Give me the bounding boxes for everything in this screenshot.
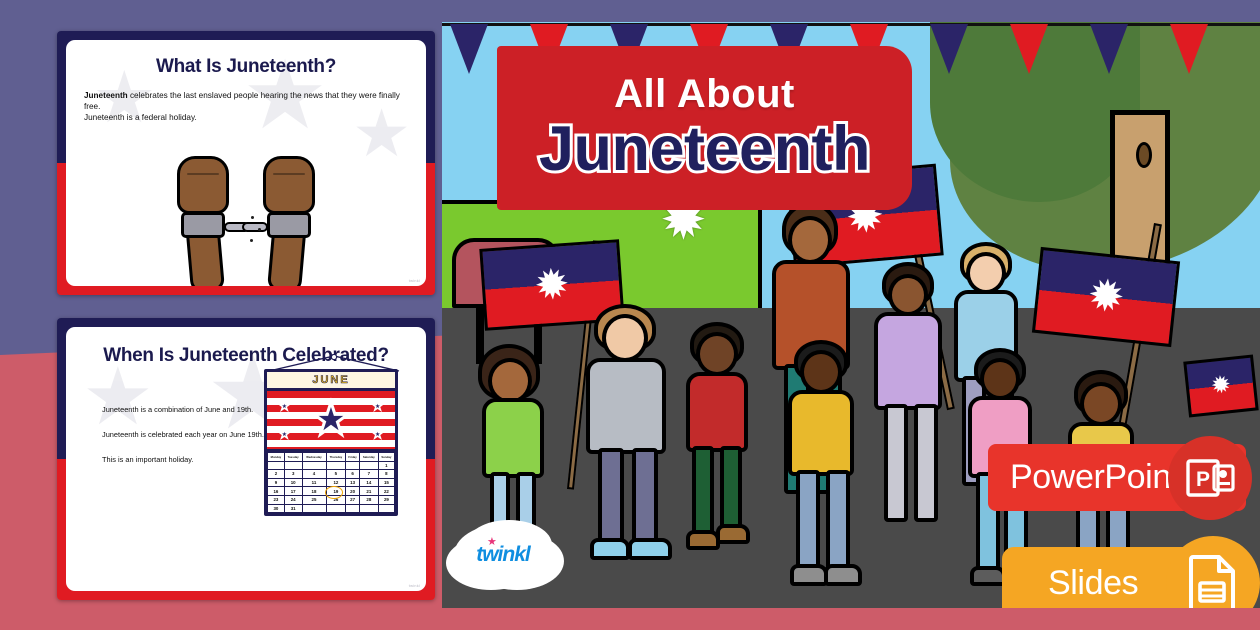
calendar-weekday-header: Tuesday: [284, 453, 302, 462]
right-chain-link: [242, 222, 268, 232]
calendar-weekday-header: Friday: [346, 453, 360, 462]
google-slides-badge[interactable]: Slides: [1002, 547, 1246, 608]
juneteenth-flag: ✹: [1032, 247, 1180, 347]
calendar-weekday-header: Monday: [268, 453, 285, 462]
juneteenth-star-burst: ✹: [1210, 373, 1233, 399]
calendar-weekday-header: Wednesday: [302, 453, 326, 462]
calendar-day-cell[interactable]: 1: [378, 461, 394, 470]
slide2-footer: twinkl: [409, 583, 420, 588]
calendar-day-cell[interactable]: 28: [359, 495, 378, 504]
powerpoint-icon-circle: P: [1168, 436, 1252, 520]
slide1-footer: twinkl: [409, 278, 420, 283]
calendar-empty-cell: [359, 461, 378, 470]
powerpoint-icon: P: [1184, 452, 1236, 504]
calendar-day-cell[interactable]: 17: [284, 487, 302, 496]
fists-artwork: [66, 154, 426, 286]
left-fist: [177, 156, 229, 214]
calendar-day-cell[interactable]: 3: [284, 470, 302, 479]
left-shackle: [181, 212, 225, 238]
calendar-empty-cell: [346, 504, 360, 513]
slide1-bold-word: Juneteenth: [84, 91, 128, 100]
calendar-empty-cell: [359, 504, 378, 513]
slide-thumbnail-2[interactable]: ★ ★ ★ When Is Juneteenth Celebrated? Jun…: [57, 318, 435, 600]
calendar-day-cell[interactable]: 23: [268, 495, 285, 504]
twinkl-logo: ★ twinkl: [454, 524, 552, 586]
calendar-day-cell[interactable]: 13: [346, 478, 360, 487]
calendar-day-cell[interactable]: 20: [346, 487, 360, 496]
calendar-day-cell[interactable]: 14: [359, 478, 378, 487]
twinkl-wordmark: twinkl: [454, 543, 552, 567]
cover-title-line1: All About: [614, 72, 795, 117]
slide1-line1-rest: celebrates the last enslaved people hear…: [84, 91, 400, 111]
juneteenth-star-burst: ✹: [1085, 273, 1126, 321]
calendar-day-cell[interactable]: 19: [326, 487, 346, 496]
calendar-empty-cell: [302, 504, 326, 513]
powerpoint-badge[interactable]: PowerPoint P: [988, 444, 1246, 511]
slide1-line2: Juneteenth is a federal holiday.: [84, 113, 197, 122]
calendar-weekday-header: Saturday: [359, 453, 378, 462]
calendar-day-cell[interactable]: 24: [284, 495, 302, 504]
slide2-sheet: ★ ★ ★ When Is Juneteenth Celebrated? Jun…: [66, 327, 426, 591]
calendar-week-row: 2345678: [268, 470, 395, 479]
calendar-empty-cell: [326, 504, 346, 513]
calendar-small-star: ★: [372, 399, 383, 413]
calendar-day-cell[interactable]: 15: [378, 478, 394, 487]
slide2-paragraph-1: Juneteenth is a combination of June and …: [102, 405, 267, 415]
calendar-day-cell[interactable]: 2: [268, 470, 285, 479]
calendar-empty-cell: [378, 504, 394, 513]
calendar-day-cell[interactable]: 11: [302, 478, 326, 487]
calendar-weekday-header: Sunday: [378, 453, 394, 462]
calendar-empty-cell: [284, 461, 302, 470]
calendar-day-cell[interactable]: 7: [359, 470, 378, 479]
calendar-empty-cell: [346, 461, 360, 470]
calendar-day-cell[interactable]: 18: [302, 487, 326, 496]
calendar-artwork: ★ ★ ★ ★ ★: [267, 391, 395, 449]
calendar-day-cell[interactable]: 9: [268, 478, 285, 487]
calendar-day-cell[interactable]: 21: [359, 487, 378, 496]
slide2-body: Juneteenth is a combination of June and …: [102, 405, 267, 465]
slide2-paragraph-2: Juneteenth is celebrated each year on Ju…: [102, 430, 267, 440]
tree-knot: [1136, 142, 1152, 168]
calendar-big-star: ★: [311, 398, 350, 442]
main-cover-image[interactable]: ✹ ✹ ✹ ✹ ✹: [442, 22, 1260, 608]
juneteenth-flag-small: ✹: [1183, 354, 1258, 417]
calendar-day-cell[interactable]: 4: [302, 470, 326, 479]
calendar-day-cell[interactable]: 8: [378, 470, 394, 479]
calendar-grid: MondayTuesdayWednesdayThursdayFridaySatu…: [267, 449, 395, 513]
calendar-week-row: 16171819202122: [268, 487, 395, 496]
slide1-title: What Is Juneteenth?: [66, 56, 426, 78]
cover-title-line2: Juneteenth: [539, 113, 870, 185]
right-fist: [263, 156, 315, 214]
right-shackle: [267, 212, 311, 238]
calendar-hanger: [267, 354, 395, 372]
slides-label: Slides: [1048, 564, 1138, 603]
google-slides-icon: [1185, 553, 1241, 608]
cover-title-banner: All About Juneteenth: [497, 46, 912, 210]
calendar-day-cell[interactable]: 10: [284, 478, 302, 487]
slide-thumbnail-1[interactable]: ★ ★ ★ What Is Juneteenth? Juneteenth cel…: [57, 31, 435, 295]
calendar-small-star: ★: [279, 427, 290, 441]
june-calendar: JUNE ★ ★ ★ ★ ★ MondayTuesdayWednesdayThu…: [264, 369, 398, 516]
calendar-empty-cell: [326, 461, 346, 470]
slide1-body: Juneteenth celebrates the last enslaved …: [84, 90, 408, 123]
screenshot-stage: ★ ★ ★ What Is Juneteenth? Juneteenth cel…: [0, 0, 1260, 630]
calendar-week-row: 1: [268, 461, 395, 470]
calendar-week-row: 3031: [268, 504, 395, 513]
calendar-day-cell[interactable]: 30: [268, 504, 285, 513]
calendar-small-star: ★: [279, 399, 290, 413]
calendar-weekday-header: Thursday: [326, 453, 346, 462]
calendar-day-cell[interactable]: 29: [378, 495, 394, 504]
calendar-day-cell[interactable]: 31: [284, 504, 302, 513]
calendar-day-cell[interactable]: 25: [302, 495, 326, 504]
calendar-day-cell[interactable]: 6: [346, 470, 360, 479]
calendar-day-cell[interactable]: 16: [268, 487, 285, 496]
calendar-day-cell[interactable]: 27: [346, 495, 360, 504]
calendar-day-cell[interactable]: 5: [326, 470, 346, 479]
juneteenth-star-burst: ✹: [533, 263, 571, 307]
calendar-empty-cell: [302, 461, 326, 470]
calendar-month-label: JUNE: [267, 372, 395, 391]
slide1-sheet: ★ ★ ★ What Is Juneteenth? Juneteenth cel…: [66, 40, 426, 286]
calendar-empty-cell: [268, 461, 285, 470]
slide2-paragraph-3: This is an important holiday.: [102, 455, 267, 465]
calendar-small-star: ★: [372, 427, 383, 441]
svg-text:P: P: [1196, 468, 1210, 491]
calendar-day-cell[interactable]: 22: [378, 487, 394, 496]
powerpoint-label: PowerPoint: [1010, 458, 1180, 497]
